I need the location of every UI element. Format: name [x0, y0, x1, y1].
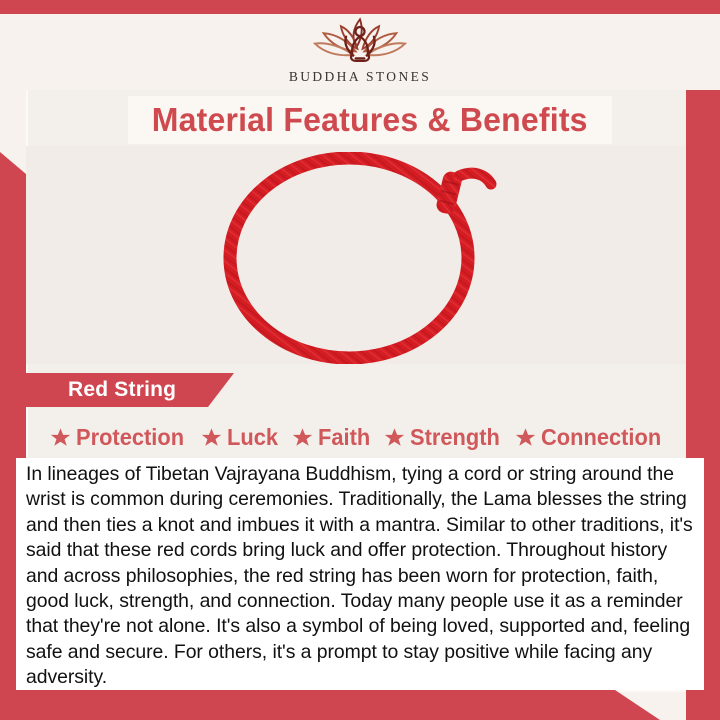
benefit-item-luck: Luck — [201, 424, 281, 451]
star-icon — [384, 427, 405, 448]
benefit-label: Connection — [541, 424, 661, 451]
product-label-text: Red String — [68, 378, 176, 402]
frame-top-bar — [0, 0, 720, 14]
product-label-banner: Red String — [26, 373, 234, 407]
description-block: In lineages of Tibetan Vajrayana Buddhis… — [16, 458, 704, 690]
description-text: In lineages of Tibetan Vajrayana Buddhis… — [26, 462, 694, 691]
benefit-item-protection: Protection — [50, 424, 190, 451]
brand-name: BUDDHA STONES — [289, 69, 431, 85]
benefits-row: Protection Luck Faith Strength Connectio… — [26, 419, 692, 455]
frame-bottom-bar — [0, 688, 720, 720]
product-image-area — [26, 146, 692, 364]
brand-header: BUDDHA STONES — [0, 14, 720, 90]
benefit-label: Strength — [410, 424, 500, 451]
lotus-meditation-icon — [308, 14, 412, 68]
red-braided-string-bracelet-icon — [209, 152, 509, 364]
benefit-item-connection: Connection — [515, 424, 668, 451]
benefit-label: Faith — [318, 424, 370, 451]
benefit-label: Protection — [76, 424, 184, 451]
star-icon — [292, 427, 313, 448]
benefit-item-faith: Faith — [292, 424, 373, 451]
star-icon — [50, 427, 71, 448]
benefit-item-strength: Strength — [384, 424, 505, 451]
title-banner: Material Features & Benefits — [128, 96, 612, 144]
star-icon — [201, 427, 222, 448]
poster-root: BUDDHA STONES Material Features & Benefi… — [0, 0, 720, 720]
benefit-label: Luck — [227, 424, 278, 451]
star-icon — [515, 427, 536, 448]
page-title: Material Features & Benefits — [152, 101, 588, 139]
